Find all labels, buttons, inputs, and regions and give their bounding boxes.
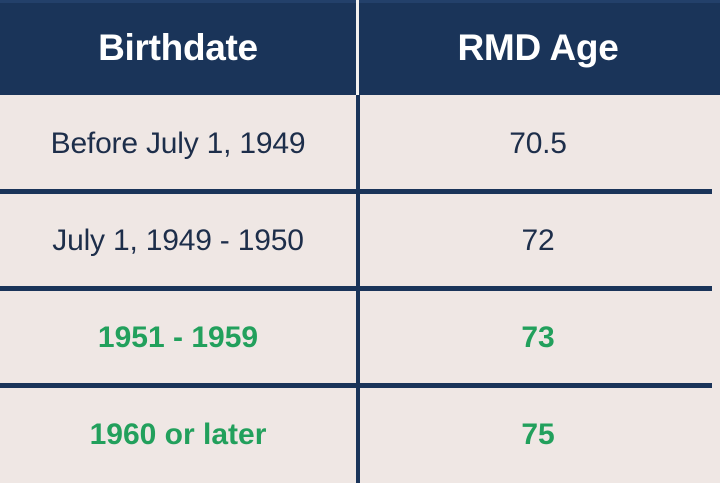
rmd-age-table: Birthdate RMD Age Before July 1, 1949 70… <box>0 0 720 483</box>
table-header-row: Birthdate RMD Age <box>0 0 720 95</box>
table-row: 1951 - 1959 73 <box>0 289 720 386</box>
table-row: Before July 1, 1949 70.5 <box>0 95 720 192</box>
cell-rmd-age: 75 <box>356 386 720 483</box>
table-body: Before July 1, 1949 70.5 July 1, 1949 - … <box>0 95 720 483</box>
table-row: 1960 or later 75 <box>0 386 720 483</box>
table-row: July 1, 1949 - 1950 72 <box>0 192 720 289</box>
cell-rmd-age: 70.5 <box>356 95 720 192</box>
column-header-birthdate: Birthdate <box>0 0 356 95</box>
body-column-divider <box>356 95 360 483</box>
cell-birthdate: Before July 1, 1949 <box>0 95 356 192</box>
column-header-rmd-age: RMD Age <box>356 0 720 95</box>
header-column-divider <box>356 0 359 95</box>
cell-birthdate: July 1, 1949 - 1950 <box>0 192 356 289</box>
cell-birthdate: 1951 - 1959 <box>0 289 356 386</box>
cell-birthdate: 1960 or later <box>0 386 356 483</box>
cell-rmd-age: 72 <box>356 192 720 289</box>
cell-rmd-age: 73 <box>356 289 720 386</box>
